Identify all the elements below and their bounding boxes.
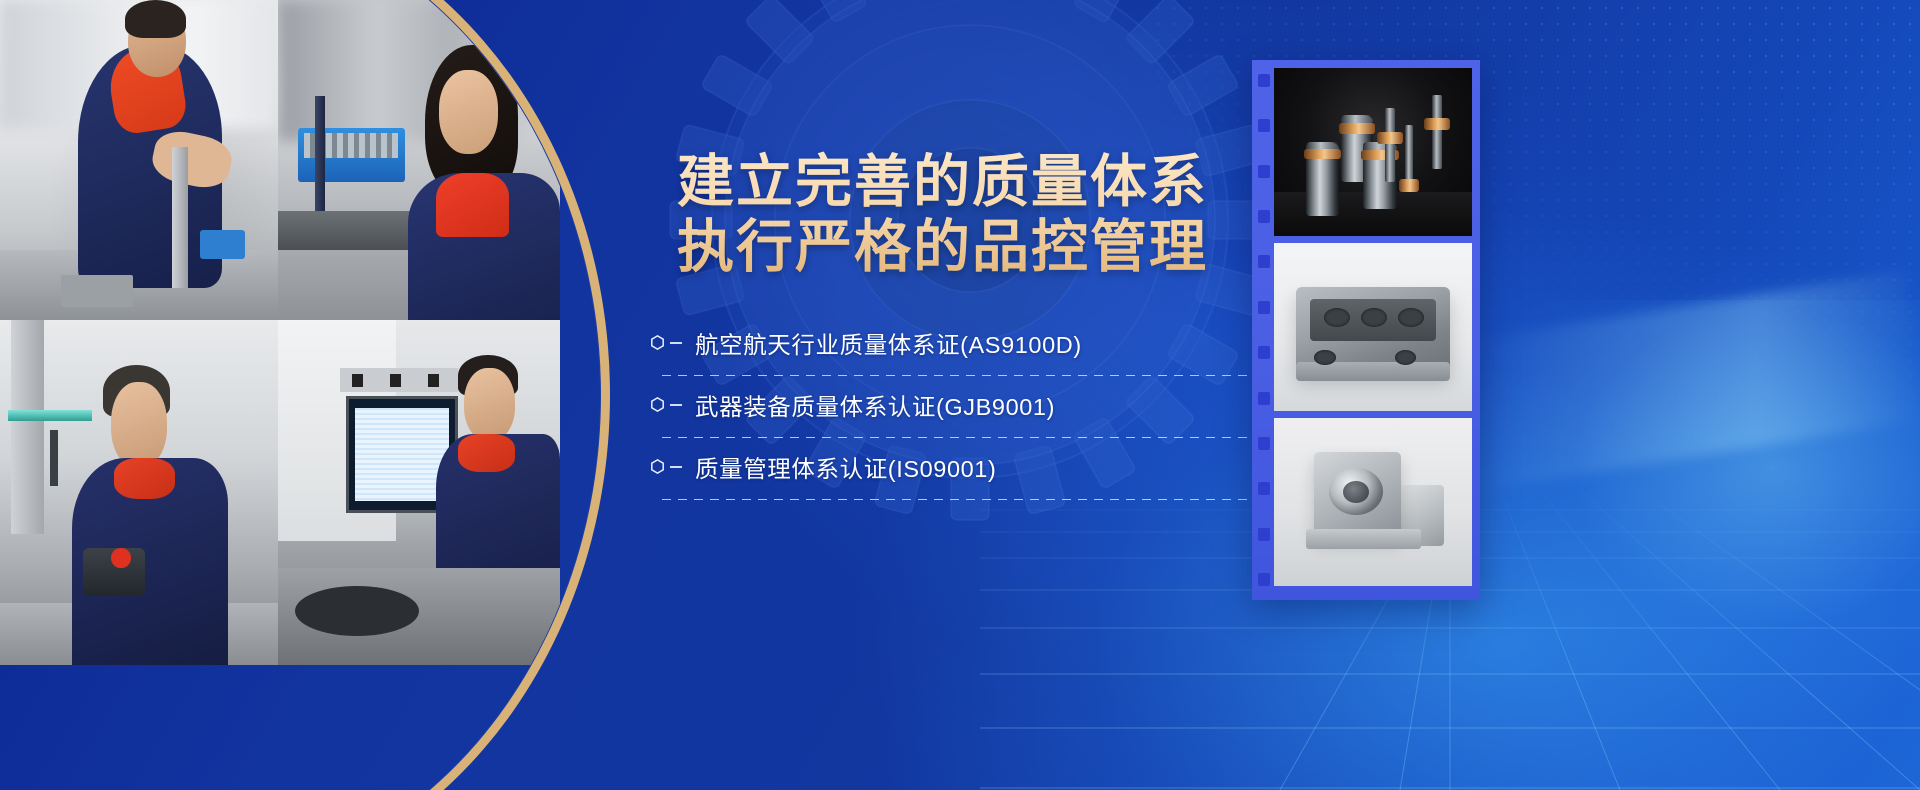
certification-label: 航空航天行业质量体系证(AS9100D) (695, 326, 1082, 360)
hexagon-bullet-icon (648, 333, 667, 352)
photo-cmm-operator (0, 320, 278, 665)
product-photo-precision-sleeves (1274, 68, 1472, 236)
product-photo-aluminum-housing (1274, 243, 1472, 411)
hexagon-bullet-icon (648, 457, 667, 476)
quality-system-banner: 建立完善的质量体系 执行严格的品控管理 航空航天行业质量体系证(AS9100D) (0, 0, 1920, 790)
list-item: 质量管理体系认证(IS09001) (648, 440, 1208, 502)
headline-line-1: 建立完善的质量体系 (648, 150, 1208, 215)
certification-label: 质量管理体系认证(IS09001) (695, 450, 996, 484)
photo-inspector-height-gauge (0, 0, 278, 320)
photo-machine-operator-monitor (278, 320, 560, 665)
hexagon-bullet-icon (648, 395, 667, 414)
list-item: 航空航天行业质量体系证(AS9100D) (648, 316, 1208, 378)
dashed-underline (662, 499, 1340, 500)
page-title: 建立完善的质量体系 执行严格的品控管理 (648, 150, 1208, 280)
product-filmstrip (1252, 60, 1480, 600)
filmstrip-perforations (1258, 74, 1270, 586)
product-photo-bearing-block (1274, 418, 1472, 586)
list-item: 武器装备质量体系认证(GJB9001) (648, 378, 1208, 440)
dashed-underline (662, 437, 1340, 438)
right-glow (1460, 300, 1920, 720)
bullet-dash (670, 342, 682, 344)
certification-list: 航空航天行业质量体系证(AS9100D) 武器装备质量体系认证(GJB9001) (648, 316, 1208, 502)
banner-content: 建立完善的质量体系 执行严格的品控管理 航空航天行业质量体系证(AS9100D) (648, 150, 1208, 502)
certification-label: 武器装备质量体系认证(GJB9001) (695, 388, 1055, 422)
headline-line-2: 执行严格的品控管理 (648, 215, 1208, 280)
photo-collage (0, 0, 600, 790)
photo-female-technician-bench (278, 0, 560, 320)
dashed-underline (662, 375, 1340, 376)
bullet-dash (670, 404, 682, 406)
bullet-dash (670, 466, 682, 468)
